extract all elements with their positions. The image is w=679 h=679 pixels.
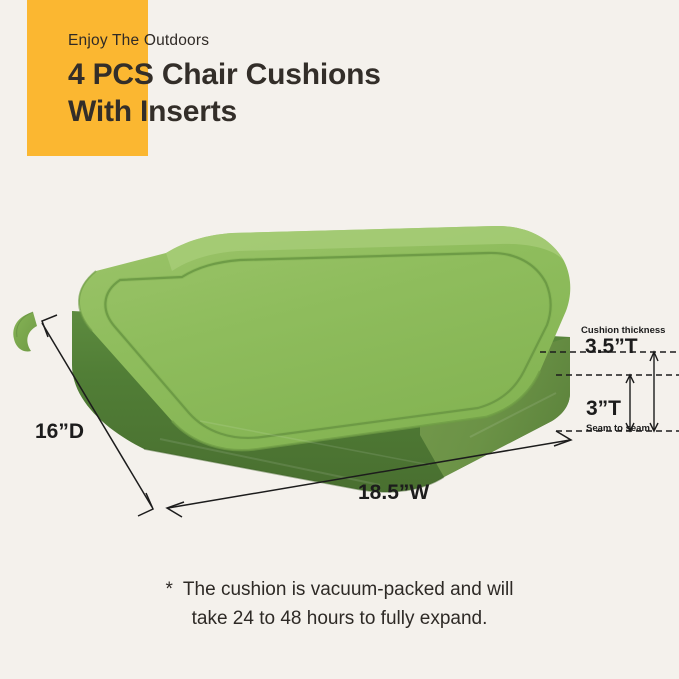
footer-note-line-2: take 24 to 48 hours to fully expand. [0, 604, 679, 633]
asterisk-icon: * [166, 575, 173, 604]
seam-to-seam-caption: Seam to seam [586, 423, 650, 434]
eyebrow-text: Enjoy The Outdoors [68, 30, 628, 52]
depth-dimension-label: 16”D [35, 420, 84, 444]
headline-line-1: 4 PCS Chair Cushions [68, 57, 628, 93]
footer-note-line-1: *The cushion is vacuum-packed and will [0, 575, 679, 604]
footer-note: *The cushion is vacuum-packed and will t… [0, 575, 679, 633]
footer-note-text-1: The cushion is vacuum-packed and will [183, 579, 514, 600]
overall-thickness-label: 3.5”T [585, 335, 638, 359]
cushion-thickness-caption: Cushion thickness [581, 325, 665, 336]
overall-thickness-arrow [650, 352, 658, 431]
width-dimension-label: 18.5”W [358, 481, 429, 505]
header-text-group: Enjoy The Outdoors 4 PCS Chair Cushions … [68, 30, 628, 130]
cushion-illustration [0, 185, 679, 545]
cushion-carry-tab [13, 312, 37, 351]
product-infographic-page: Enjoy The Outdoors 4 PCS Chair Cushions … [0, 0, 679, 679]
seam-thickness-label: 3”T [586, 397, 621, 421]
headline-line-2: With Inserts [68, 94, 628, 130]
product-image-stage [0, 185, 679, 545]
